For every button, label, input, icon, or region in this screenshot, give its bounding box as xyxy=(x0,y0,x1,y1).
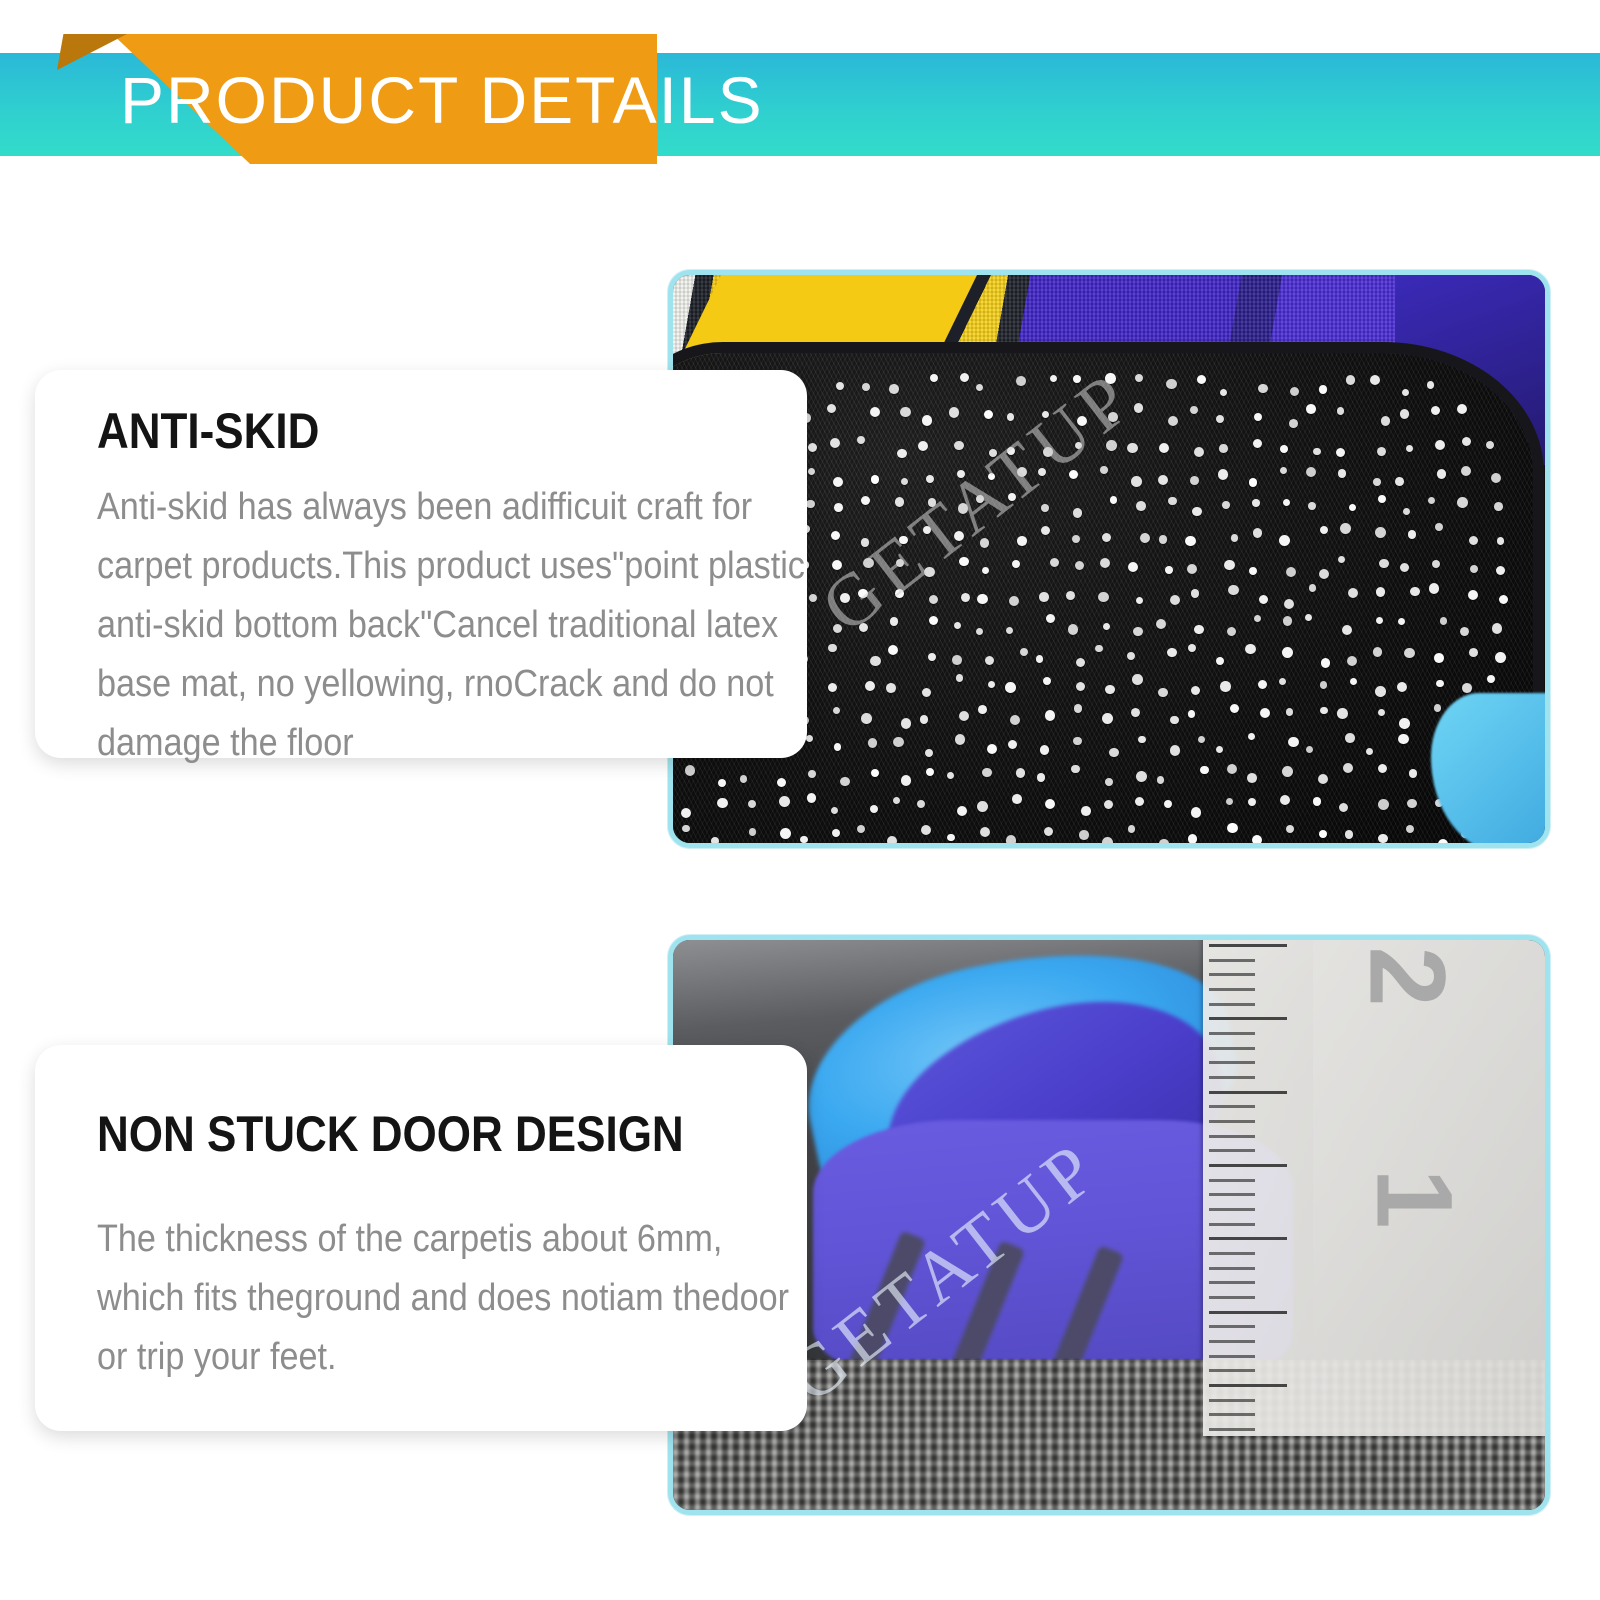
page-title: PRODUCT DETAILS xyxy=(120,44,640,156)
card-anti-skid-title: ANTI-SKID xyxy=(97,402,319,460)
card-anti-skid: ANTI-SKID Anti-skid has always been adif… xyxy=(35,370,807,758)
blue-carpet-edge xyxy=(1431,693,1545,843)
card-non-stuck-door-title: NON STUCK DOOR DESIGN xyxy=(97,1105,684,1163)
ruler-number-2: 2 xyxy=(1346,946,1471,1006)
card-anti-skid-body: Anti-skid has always been adifficuit cra… xyxy=(97,478,844,773)
card-non-stuck-door-body: The thickness of the carpetis about 6mm,… xyxy=(97,1210,808,1387)
ruler-number-1: 1 xyxy=(1353,1168,1478,1228)
card-non-stuck-door: NON STUCK DOOR DESIGN The thickness of t… xyxy=(35,1045,807,1431)
measuring-ruler: 2 1 xyxy=(1203,940,1545,1436)
ruler-tick-marks xyxy=(1209,940,1349,1436)
header-banner: PRODUCT DETAILS xyxy=(0,0,1600,210)
